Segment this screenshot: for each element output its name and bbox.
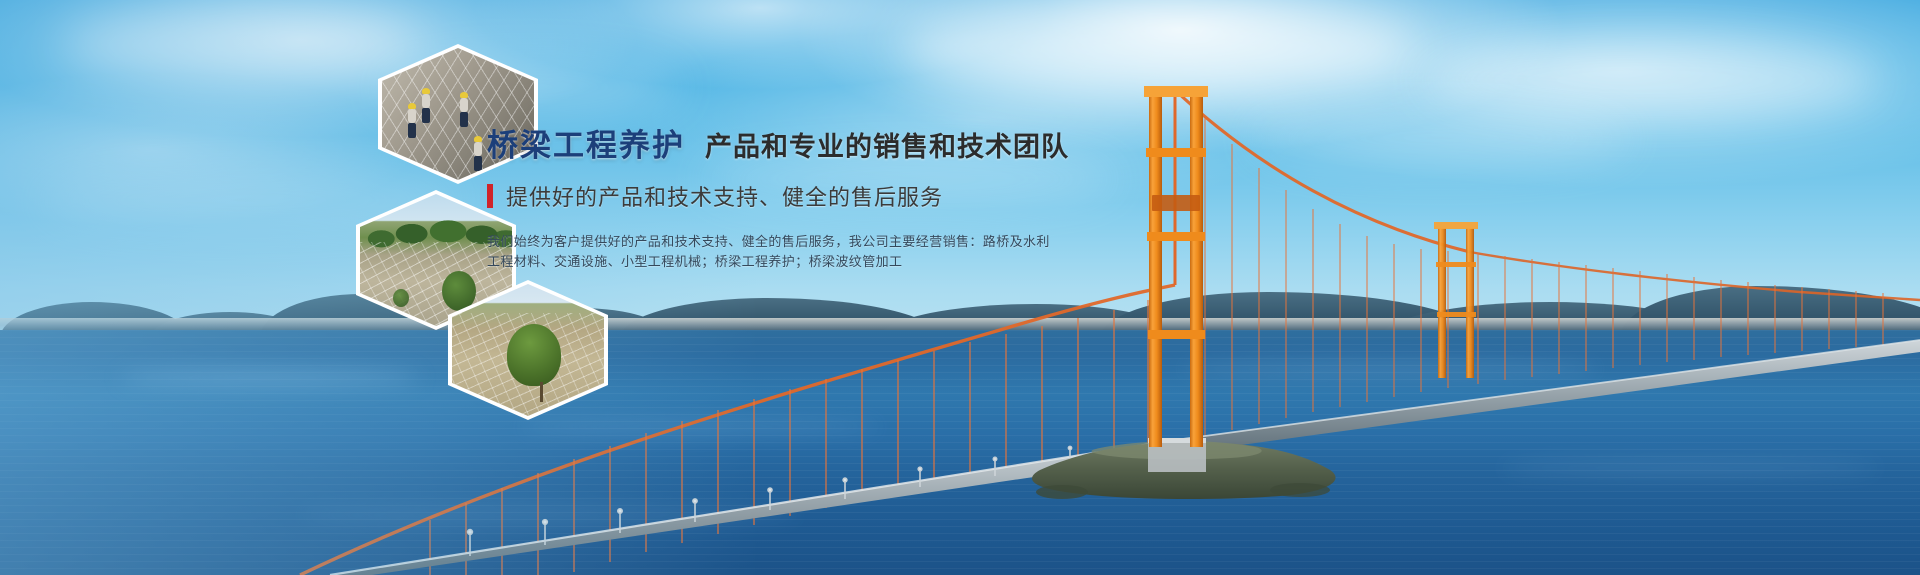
description-paragraph: 我们始终为客户提供好的产品和技术支持、健全的售后服务，我公司主要经营销售：路桥及… <box>487 232 1107 272</box>
description-line: 工程材料、交通设施、小型工程机械；桥梁工程养护；桥梁波纹管加工 <box>487 252 1107 272</box>
hero-banner: 桥梁工程养护 产品和专业的销售和技术团队 提供好的产品和技术支持、健全的售后服务… <box>0 0 1920 575</box>
suspension-bridge-illustration <box>0 0 1920 575</box>
banner-text-block: 桥梁工程养护 产品和专业的销售和技术团队 提供好的产品和技术支持、健全的售后服务… <box>487 120 1107 272</box>
subheadline-row: 提供好的产品和技术支持、健全的售后服务 <box>487 180 1107 212</box>
headline: 桥梁工程养护 产品和专业的销售和技术团队 <box>487 120 1107 165</box>
subheadline: 提供好的产品和技术支持、健全的售后服务 <box>506 180 943 212</box>
description-line: 我们始终为客户提供好的产品和技术支持、健全的售后服务，我公司主要经营销售：路桥及… <box>487 232 1107 252</box>
headline-primary: 桥梁工程养护 <box>487 120 685 165</box>
accent-bar-icon <box>487 184 493 208</box>
headline-secondary: 产品和专业的销售和技术团队 <box>705 125 1069 164</box>
